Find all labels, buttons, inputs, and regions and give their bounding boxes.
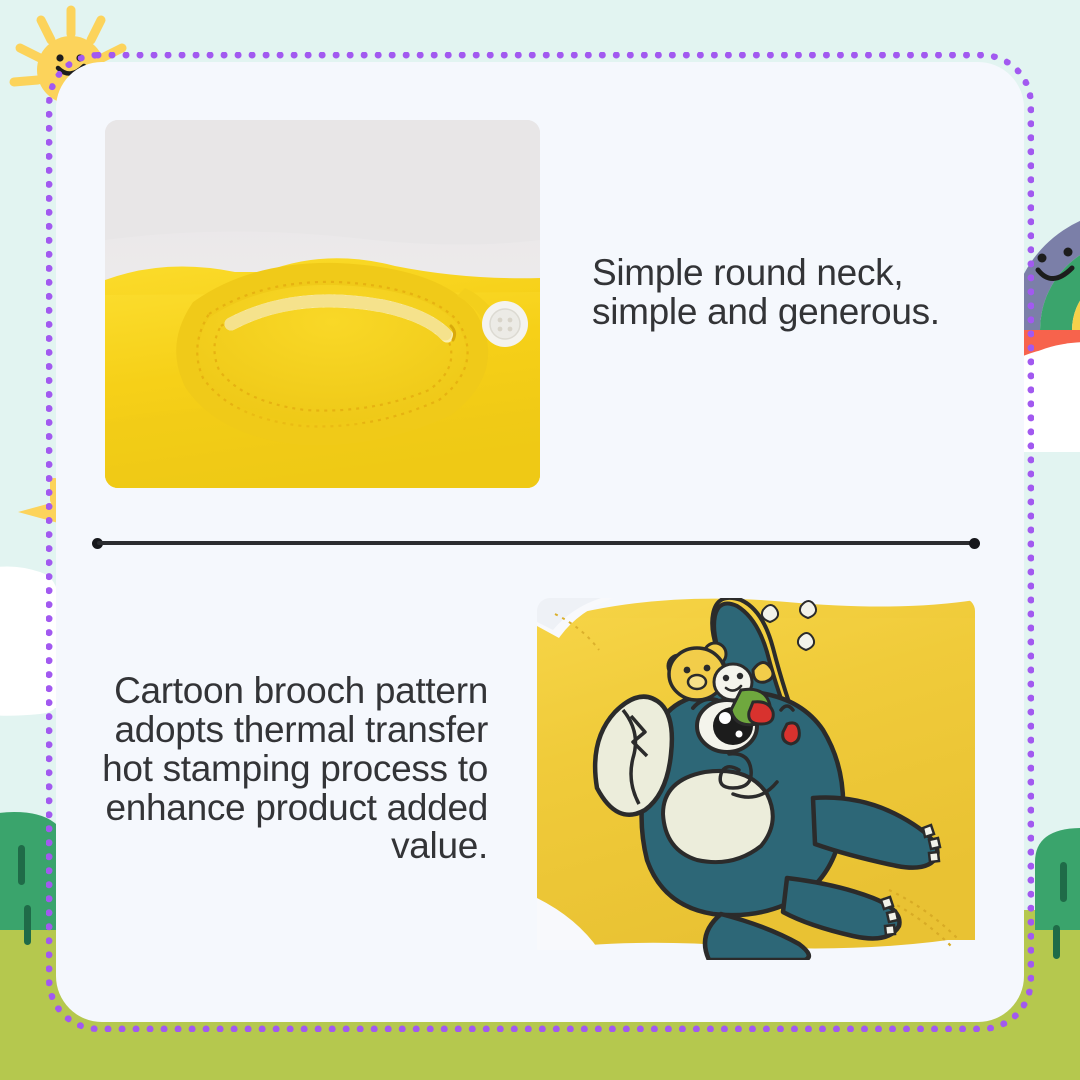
photo-round-neck xyxy=(105,120,540,488)
caption-cartoon-brooch: Cartoon brooch pattern adopts thermal tr… xyxy=(88,672,488,866)
divider-endpoint-right xyxy=(969,538,980,549)
section-divider xyxy=(92,538,980,548)
divider-line xyxy=(97,541,975,545)
cloud-left xyxy=(0,566,58,715)
caption-round-neck: Simple round neck, simple and generous. xyxy=(592,254,992,332)
photo-cartoon-brooch xyxy=(537,598,975,960)
